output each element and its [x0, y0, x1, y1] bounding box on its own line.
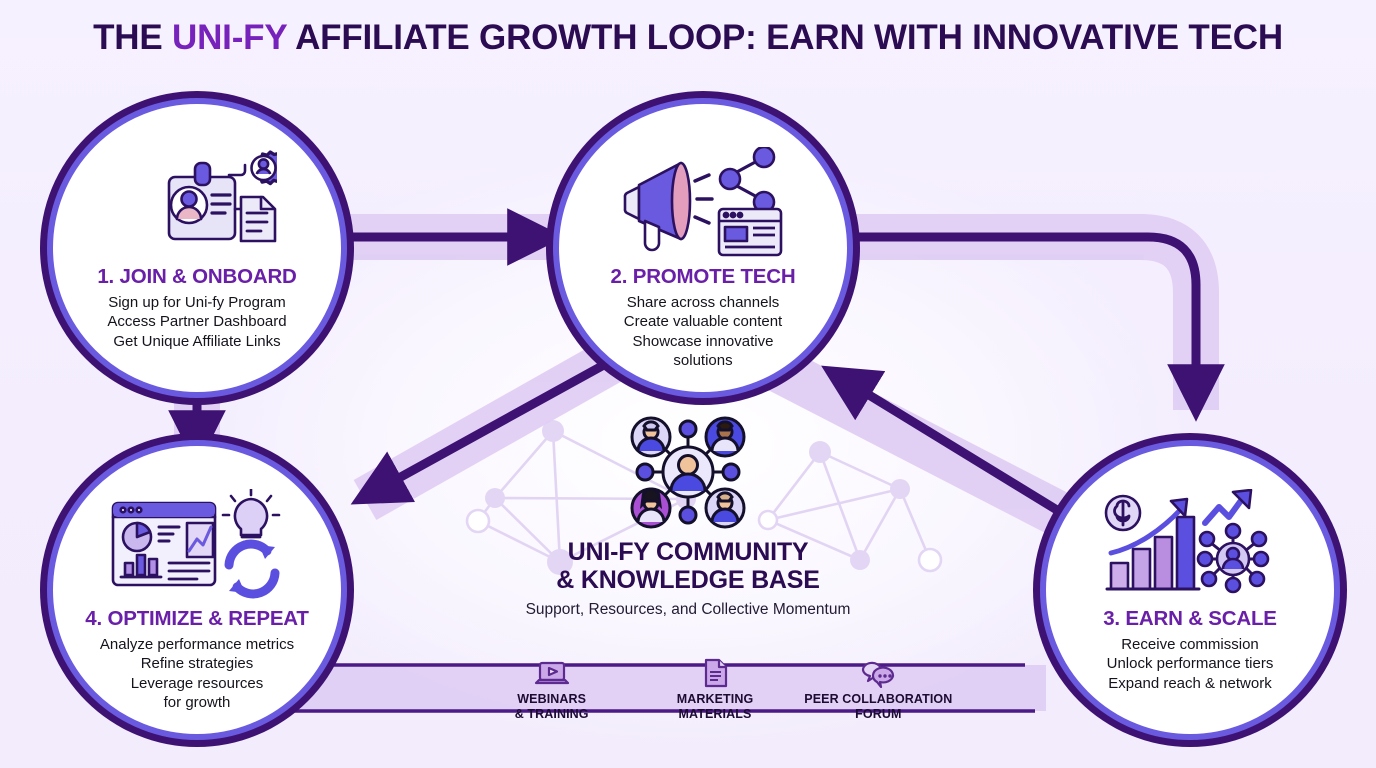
hub-title-line2: & KNOWLEDGE BASE: [448, 566, 928, 594]
title-after: AFFILIATE GROWTH LOOP: EARN WITH INNOVAT…: [287, 18, 1283, 57]
node-title: 4. OPTIMIZE & REPEAT: [85, 607, 308, 631]
node-earn-scale[interactable]: 3. EARN & SCALE Receive commission Unloc…: [1040, 440, 1340, 740]
resource-label-line1: WEBINARS: [515, 692, 589, 707]
node-optimize-repeat[interactable]: 4. OPTIMIZE & REPEAT Analyze performance…: [47, 440, 347, 740]
resource-label-line2: & TRAINING: [515, 707, 589, 722]
resource-label-line2: FORUM: [804, 707, 952, 722]
resource-label-line1: MARKETING: [677, 692, 754, 707]
infographic-canvas: THE UNI-FY AFFILIATE GROWTH LOOP: EARN W…: [0, 0, 1376, 768]
laptop-play-icon: [534, 658, 570, 688]
hub-title-line1: UNI-FY COMMUNITY: [448, 538, 928, 566]
resource-strip: WEBINARS & TRAINING MARKETING MATERIALS: [470, 658, 960, 722]
node-promote-tech[interactable]: 2. PROMOTE TECH Share across channels Cr…: [553, 98, 853, 398]
node-title: 2. PROMOTE TECH: [611, 265, 796, 289]
dollar-bar-chart-network-icon: [1101, 486, 1279, 604]
resource-item-marketing[interactable]: MARKETING MATERIALS: [633, 658, 796, 722]
page-title: THE UNI-FY AFFILIATE GROWTH LOOP: EARN W…: [0, 18, 1376, 58]
megaphone-share-browser-icon: [619, 144, 787, 262]
community-hub: UNI-FY COMMUNITY & KNOWLEDGE BASE Suppor…: [448, 412, 928, 619]
resource-item-webinars[interactable]: WEBINARS & TRAINING: [470, 658, 633, 722]
node-description: Analyze performance metrics Refine strat…: [72, 635, 322, 712]
node-join-onboard[interactable]: 1. JOIN & ONBOARD Sign up for Uni-fy Pro…: [47, 98, 347, 398]
chat-bubbles-icon: [859, 658, 897, 688]
resource-label: PEER COLLABORATION FORUM: [804, 692, 952, 722]
node-title: 3. EARN & SCALE: [1103, 607, 1277, 631]
analytics-dashboard-lightbulb-refresh-icon: [109, 486, 285, 604]
resource-item-forum[interactable]: PEER COLLABORATION FORUM: [797, 658, 960, 722]
resource-label: WEBINARS & TRAINING: [515, 692, 589, 722]
title-highlight: UNI-FY: [172, 18, 287, 57]
arrow-promote-to-earn: [855, 237, 1196, 402]
title-before: THE: [93, 18, 172, 57]
id-badge-gear-document-icon: [117, 144, 277, 262]
resource-label-line1: PEER COLLABORATION: [804, 692, 952, 707]
hub-title: UNI-FY COMMUNITY & KNOWLEDGE BASE: [448, 538, 928, 594]
node-title: 1. JOIN & ONBOARD: [97, 265, 296, 289]
resource-label: MARKETING MATERIALS: [677, 692, 754, 722]
document-icon: [701, 658, 729, 688]
hub-subtitle: Support, Resources, and Collective Momen…: [448, 601, 928, 619]
node-description: Receive commission Unlock performance ti…: [1065, 635, 1315, 693]
node-description: Share across channels Create valuable co…: [578, 293, 828, 370]
resource-label-line2: MATERIALS: [677, 707, 754, 722]
node-description: Sign up for Uni-fy Program Access Partne…: [72, 293, 322, 351]
people-network-icon: [448, 412, 928, 532]
